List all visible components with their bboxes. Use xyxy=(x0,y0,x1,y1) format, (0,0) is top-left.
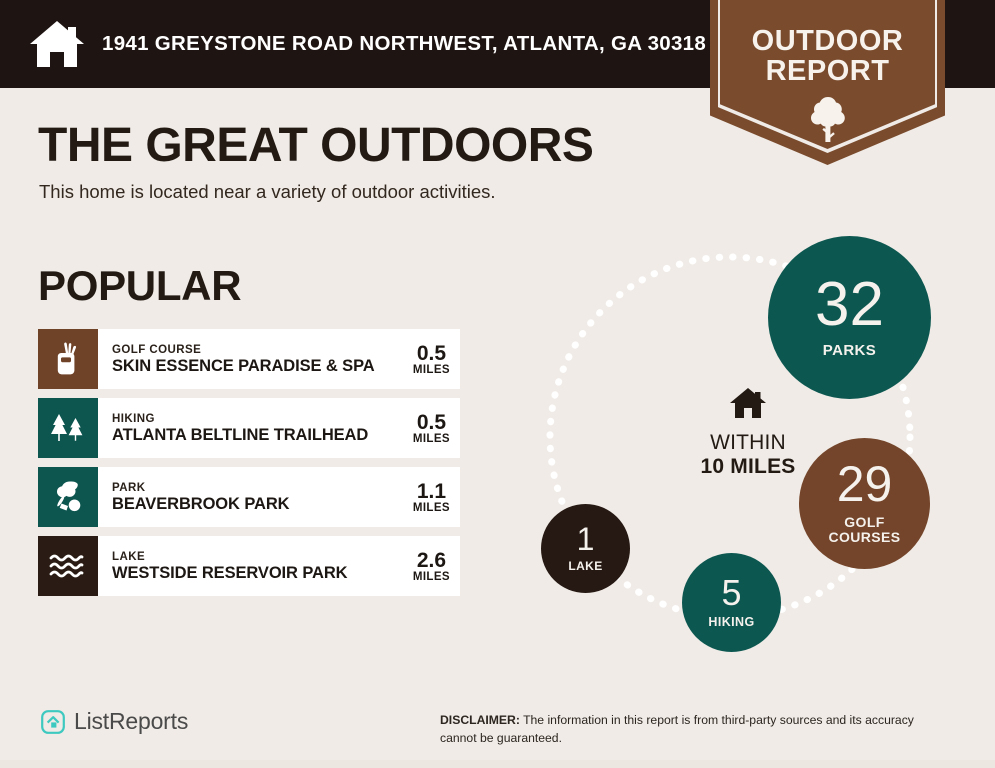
list-item-icon-tile xyxy=(38,467,98,527)
stat-label-lake: LAKE xyxy=(568,559,602,573)
list-item[interactable]: LAKE WESTSIDE RESERVOIR PARK 2.6 MILES xyxy=(38,536,460,596)
list-item-icon-tile xyxy=(38,536,98,596)
golf-bag-icon xyxy=(51,341,85,377)
page-title: THE GREAT OUTDOORS xyxy=(38,118,593,173)
listreports-house-icon xyxy=(40,709,66,735)
list-item-distance-unit: MILES xyxy=(413,364,450,376)
stat-label-golf-courses: GOLF COURSES xyxy=(828,515,900,546)
list-item-distance-unit: MILES xyxy=(413,571,450,583)
house-icon xyxy=(729,386,767,420)
list-item-distance: 0.5 MILES xyxy=(407,412,450,445)
badge-fill xyxy=(720,0,935,149)
popular-heading: POPULAR xyxy=(38,262,241,310)
stat-bubble-hiking[interactable]: 5 HIKING xyxy=(682,553,781,652)
page-subtitle: This home is located near a variety of o… xyxy=(39,181,496,203)
pine-trees-icon xyxy=(48,412,88,444)
stat-label-hiking: HIKING xyxy=(708,615,754,629)
stat-label-golf-line-1: GOLF xyxy=(828,515,900,531)
list-item[interactable]: GOLF COURSE SKIN ESSENCE PARADISE & SPA … xyxy=(38,329,460,389)
stat-value-hiking: 5 xyxy=(721,576,741,610)
list-item-category: LAKE xyxy=(112,550,407,564)
list-item-distance-value: 1.1 xyxy=(413,481,450,502)
list-item-distance-value: 0.5 xyxy=(413,343,450,364)
stat-label-golf-line-2: COURSES xyxy=(828,530,900,546)
stat-value-lake: 1 xyxy=(577,524,595,554)
list-item-text: PARK BEAVERBROOK PARK xyxy=(112,481,407,514)
list-item-distance: 1.1 MILES xyxy=(407,481,450,514)
stat-bubble-lake[interactable]: 1 LAKE xyxy=(541,504,630,593)
list-item-distance-unit: MILES xyxy=(413,433,450,445)
stat-value-golf-courses: 29 xyxy=(837,461,893,509)
list-item-icon-tile xyxy=(38,398,98,458)
list-item-distance-value: 0.5 xyxy=(413,412,450,433)
property-address: 1941 GREYSTONE ROAD NORTHWEST, ATLANTA, … xyxy=(102,32,706,56)
diagram-center: WITHIN 10 MILES xyxy=(663,386,833,479)
list-item-distance: 2.6 MILES xyxy=(407,550,450,583)
list-item-card: PARK BEAVERBROOK PARK 1.1 MILES xyxy=(98,467,460,527)
listreports-wordmark: ListReports xyxy=(74,708,188,735)
house-icon xyxy=(28,18,86,70)
list-item-card: LAKE WESTSIDE RESERVOIR PARK 2.6 MILES xyxy=(98,536,460,596)
center-label-line-2: 10 MILES xyxy=(663,455,833,479)
within-10-miles-diagram: 32 PARKS 29 GOLF COURSES 5 HIKING 1 LAKE… xyxy=(515,222,985,662)
stat-bubble-parks[interactable]: 32 PARKS xyxy=(768,236,931,399)
list-item-icon-tile xyxy=(38,329,98,389)
bottom-strip xyxy=(0,760,995,768)
list-item-category: HIKING xyxy=(112,412,407,426)
center-label-line-1: WITHIN xyxy=(663,431,833,455)
disclaimer-label: DISCLAIMER: xyxy=(440,713,520,727)
list-item[interactable]: PARK BEAVERBROOK PARK 1.1 MILES xyxy=(38,467,460,527)
list-item-card: GOLF COURSE SKIN ESSENCE PARADISE & SPA … xyxy=(98,329,460,389)
list-item-name: ATLANTA BELTLINE TRAILHEAD xyxy=(112,426,407,444)
list-item-name: BEAVERBROOK PARK xyxy=(112,495,407,513)
list-item-card: HIKING ATLANTA BELTLINE TRAILHEAD 0.5 MI… xyxy=(98,398,460,458)
list-item-distance: 0.5 MILES xyxy=(407,343,450,376)
outdoor-report-badge xyxy=(710,0,945,165)
listreports-logo[interactable]: ListReports xyxy=(40,708,188,735)
list-item-text: HIKING ATLANTA BELTLINE TRAILHEAD xyxy=(112,412,407,445)
stat-value-parks: 32 xyxy=(815,276,884,335)
park-trees-icon xyxy=(48,480,88,514)
list-item-text: LAKE WESTSIDE RESERVOIR PARK xyxy=(112,550,407,583)
disclaimer: DISCLAIMER: The information in this repo… xyxy=(440,712,940,747)
list-item-category: GOLF COURSE xyxy=(112,343,407,357)
list-item-text: GOLF COURSE SKIN ESSENCE PARADISE & SPA xyxy=(112,343,407,376)
popular-list: GOLF COURSE SKIN ESSENCE PARADISE & SPA … xyxy=(38,329,460,605)
list-item-distance-value: 2.6 xyxy=(413,550,450,571)
list-item-distance-unit: MILES xyxy=(413,502,450,514)
stat-label-parks: PARKS xyxy=(823,342,876,359)
list-item-name: WESTSIDE RESERVOIR PARK xyxy=(112,564,407,582)
water-waves-icon xyxy=(49,552,87,580)
list-item-name: SKIN ESSENCE PARADISE & SPA xyxy=(112,357,407,375)
list-item[interactable]: HIKING ATLANTA BELTLINE TRAILHEAD 0.5 MI… xyxy=(38,398,460,458)
list-item-category: PARK xyxy=(112,481,407,495)
